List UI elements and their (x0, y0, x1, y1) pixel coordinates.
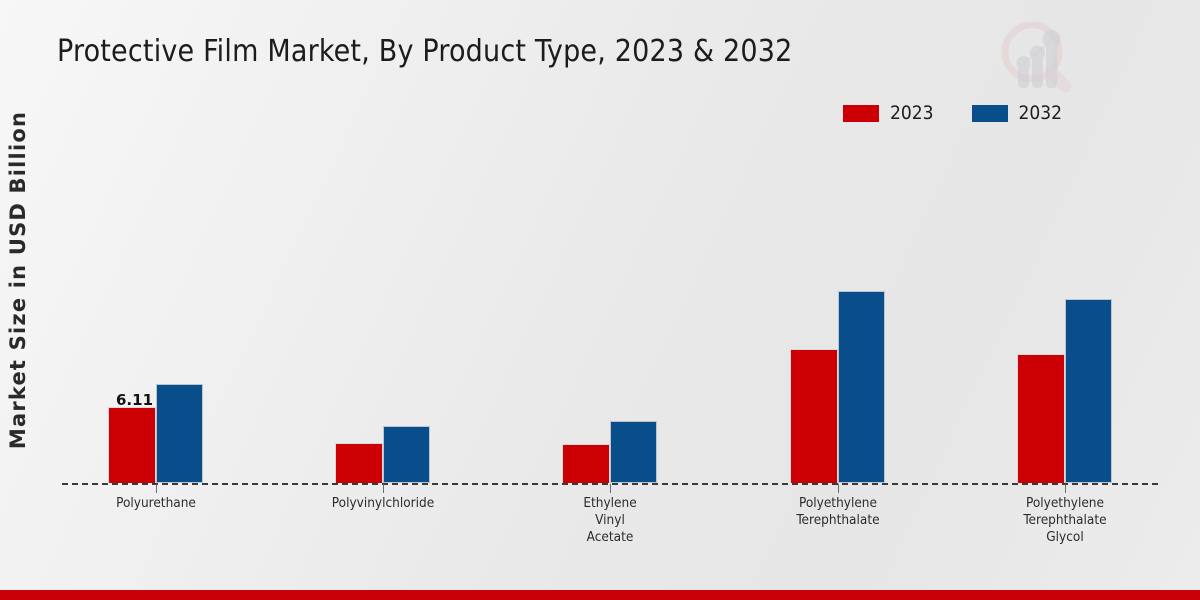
x-tick-4 (838, 484, 839, 493)
bar-2032-polyvinylchloride[interactable] (383, 426, 430, 483)
bar-2032-polyurethane[interactable] (156, 384, 203, 483)
bar-2032-polyethylene-terephthalate-glycol[interactable] (1065, 299, 1112, 483)
x-axis-label-polyethylene-terephthalate-glycol: Polyethylene Terephthalate Glycol (990, 495, 1140, 546)
bar-2023-polyvinylchloride[interactable] (335, 443, 383, 483)
bar-2032-polyethylene-terephthalate[interactable] (838, 291, 885, 483)
x-axis-label-ethylene-vinyl-acetate: Ethylene Vinyl Acetate (535, 495, 685, 546)
x-tick-2 (383, 484, 384, 493)
bar-2023-polyethylene-terephthalate[interactable] (790, 349, 838, 483)
bar-2023-polyurethane[interactable] (108, 407, 156, 483)
x-tick-3 (610, 484, 611, 493)
bar-2023-ethylene-vinyl-acetate[interactable] (562, 444, 610, 483)
chart-canvas: Protective Film Market, By Product Type,… (0, 0, 1200, 600)
x-tick-1 (156, 484, 157, 493)
x-axis-label-polyurethane: Polyurethane (81, 495, 231, 512)
footer-band (0, 590, 1200, 600)
bar-2023-polyethylene-terephthalate-glycol[interactable] (1017, 354, 1065, 483)
bar-2032-ethylene-vinyl-acetate[interactable] (610, 421, 657, 483)
plot-area: 6.11 Polyurethane Polyvinylchloride Ethy… (0, 0, 1200, 600)
bar-value-label-polyurethane-2023: 6.11 (116, 391, 153, 409)
x-axis-label-polyvinylchloride: Polyvinylchloride (308, 495, 458, 512)
x-axis-label-polyethylene-terephthalate: Polyethylene Terephthalate (763, 495, 913, 529)
x-tick-5 (1065, 484, 1066, 493)
